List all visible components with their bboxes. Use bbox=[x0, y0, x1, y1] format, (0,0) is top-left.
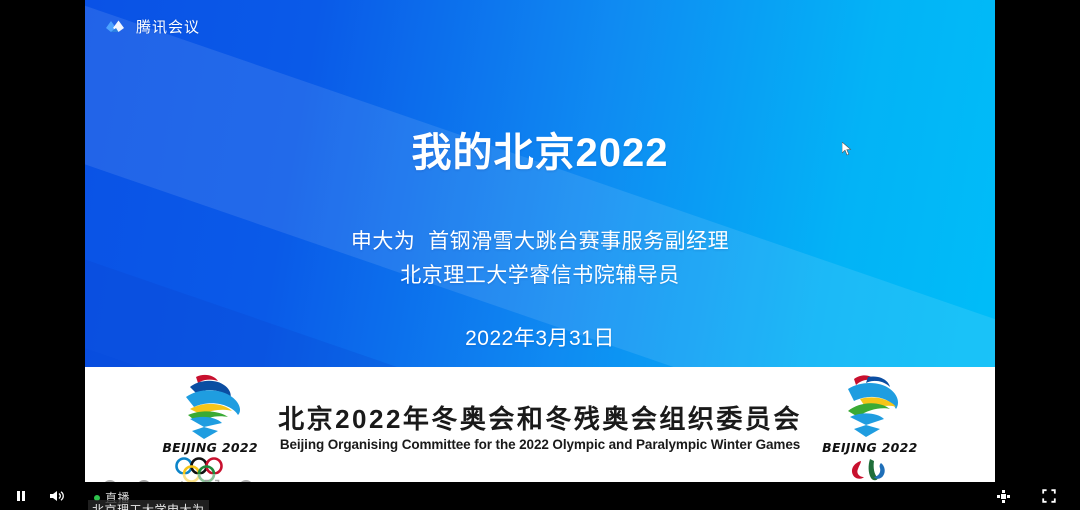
slide-date: 2022年3月31日 bbox=[85, 322, 995, 352]
committee-name-english: Beijing Organising Committee for the 202… bbox=[278, 437, 802, 452]
slide-subtitle-line-1: 申大为 首钢滑雪大跳台赛事服务副经理 bbox=[85, 225, 995, 259]
player-controls-left bbox=[0, 487, 66, 505]
olympic-emblem-wordmark: BEIJING 2022 bbox=[160, 440, 260, 455]
player-controls-right bbox=[994, 487, 1080, 505]
tencent-meeting-logo-icon bbox=[105, 18, 125, 35]
presentation-slide: 腾讯会议 我的北京2022 申大为 首钢滑雪大跳台赛事服务副经理 北京理工大学睿… bbox=[85, 0, 995, 367]
slide-decor-band-1 bbox=[85, 0, 995, 367]
video-stage[interactable]: 腾讯会议 我的北京2022 申大为 首钢滑雪大跳台赛事服务副经理 北京理工大学睿… bbox=[85, 0, 995, 490]
tencent-meeting-watermark: 腾讯会议 bbox=[105, 16, 200, 37]
slide-subtitle-line-2: 北京理工大学睿信书院辅导员 bbox=[85, 259, 995, 293]
paralympic-emblem-wordmark: BEIJING 2022 bbox=[820, 440, 920, 455]
beijing-2022-olympic-emblem-icon: BEIJING 2022 bbox=[160, 373, 260, 485]
committee-name-chinese: 北京2022年冬奥会和冬残奥会组织委员会 bbox=[278, 405, 802, 435]
pause-icon[interactable] bbox=[12, 487, 30, 505]
fullscreen-icon[interactable] bbox=[1040, 487, 1058, 505]
volume-icon[interactable] bbox=[48, 487, 66, 505]
slide-subtitle: 申大为 首钢滑雪大跳台赛事服务副经理 北京理工大学睿信书院辅导员 bbox=[85, 225, 995, 293]
organising-committee-text: 北京2022年冬奥会和冬残奥会组织委员会 Beijing Organising … bbox=[278, 405, 802, 453]
slide-footer-banner: BEIJING 2022 北京2022年冬奥会和冬残奥会组织委员会 Beijin… bbox=[85, 367, 995, 490]
slide-title: 我的北京2022 bbox=[85, 120, 995, 178]
beijing-2022-paralympic-emblem-icon: BEIJING 2022 bbox=[820, 373, 920, 485]
paralympic-agitos-icon bbox=[841, 457, 899, 483]
presenter-name-strip: 北京理工大学申大为 bbox=[88, 500, 209, 510]
tencent-meeting-label: 腾讯会议 bbox=[136, 16, 200, 37]
picture-in-picture-icon[interactable] bbox=[994, 487, 1012, 505]
video-player-window: 腾讯会议 我的北京2022 申大为 首钢滑雪大跳台赛事服务副经理 北京理工大学睿… bbox=[0, 0, 1080, 510]
